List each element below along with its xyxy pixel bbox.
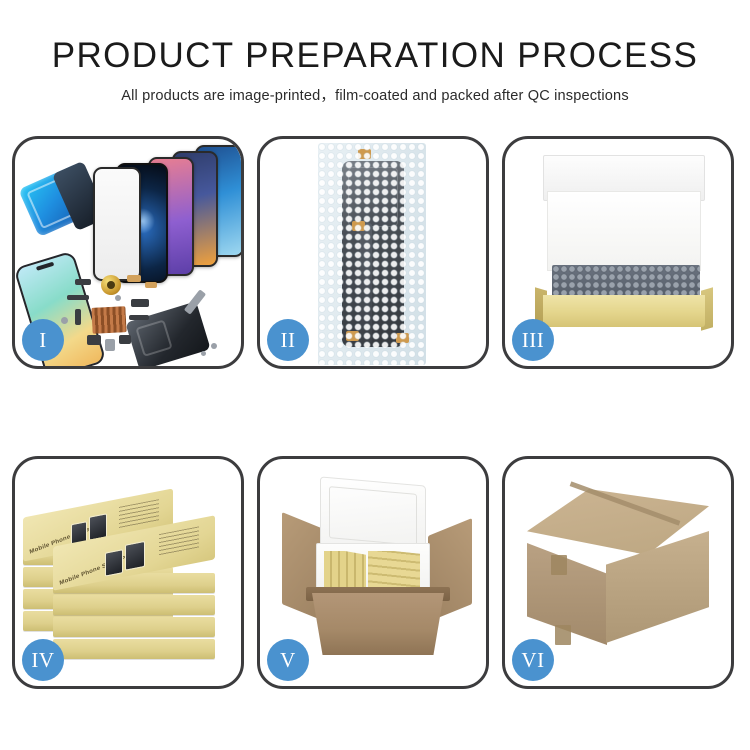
screw-icon xyxy=(61,317,68,324)
stacked-box-layer xyxy=(53,617,215,637)
box-product-image-icon xyxy=(125,541,145,571)
process-step-panel-2[interactable]: II xyxy=(257,136,489,369)
packed-boxes-group xyxy=(324,551,420,591)
process-step-panel-1[interactable]: I xyxy=(12,136,244,369)
carton-with-foam-cooler-illustration: V xyxy=(260,459,486,686)
white-foam-sheet-icon xyxy=(547,191,701,271)
screw-icon xyxy=(115,295,121,301)
screen-protector-glass-icon xyxy=(93,167,141,281)
packed-boxes-horizontal-icon xyxy=(368,551,420,591)
screw-icon xyxy=(211,343,217,349)
process-step-panel-6[interactable]: VI xyxy=(502,456,734,689)
screw-icon xyxy=(201,351,206,356)
process-step-panel-3[interactable]: III xyxy=(502,136,734,369)
step-badge-3: III xyxy=(512,319,554,361)
step-badge-5: V xyxy=(267,639,309,681)
part-icon xyxy=(67,295,89,300)
box-spec-lines-icon xyxy=(159,526,199,556)
connector-grid-chip-icon xyxy=(91,306,126,334)
process-step-grid: I II III xyxy=(12,136,738,689)
part-icon xyxy=(105,339,115,351)
stacked-box-layer xyxy=(53,595,215,615)
process-step-panel-4[interactable]: Mobile Phone Spare Parts Mobile Phone Sp… xyxy=(12,456,244,689)
phone-chassis-icon xyxy=(125,301,210,366)
open-inner-box-illustration: III xyxy=(505,139,731,366)
carton-handle-tab-icon xyxy=(555,625,571,645)
page-title: PRODUCT PREPARATION PROCESS xyxy=(0,38,750,75)
part-icon xyxy=(131,299,149,307)
page-header: PRODUCT PREPARATION PROCESS All products… xyxy=(0,0,750,105)
part-icon xyxy=(129,315,149,320)
page-subtitle: All products are image-printed，film-coat… xyxy=(0,84,750,105)
yellow-box-front-icon xyxy=(543,295,705,327)
part-icon xyxy=(119,335,131,344)
phone-screens-and-parts-illustration: I xyxy=(15,139,241,366)
carton-handle-tab-icon xyxy=(551,555,567,575)
process-step-panel-5[interactable]: V xyxy=(257,456,489,689)
bubble-wrap-bag-icon xyxy=(318,143,426,365)
bubble-texture-icon xyxy=(318,143,426,365)
part-icon xyxy=(75,279,91,285)
part-icon xyxy=(75,309,81,325)
stacked-box-layer xyxy=(53,639,215,659)
carton-front-icon xyxy=(312,593,444,655)
step-badge-6: VI xyxy=(512,639,554,681)
step-badge-2: II xyxy=(267,319,309,361)
part-icon xyxy=(87,335,101,345)
box-spec-lines-icon xyxy=(119,499,159,529)
step-badge-1: I xyxy=(22,319,64,361)
sealed-shipping-carton-illustration: VI xyxy=(505,459,731,686)
stacked-boxes-illustration: Mobile Phone Spare Parts Mobile Phone Sp… xyxy=(15,459,241,686)
part-icon xyxy=(127,275,141,282)
grey-bubble-wrap-icon xyxy=(552,265,700,299)
step-badge-4: IV xyxy=(22,639,64,681)
bubble-wrapped-part-illustration: II xyxy=(260,139,486,366)
copper-coil-icon xyxy=(101,275,121,295)
part-icon xyxy=(145,282,157,288)
packed-boxes-vertical-icon xyxy=(324,551,366,591)
box-product-image-icon xyxy=(105,549,123,576)
